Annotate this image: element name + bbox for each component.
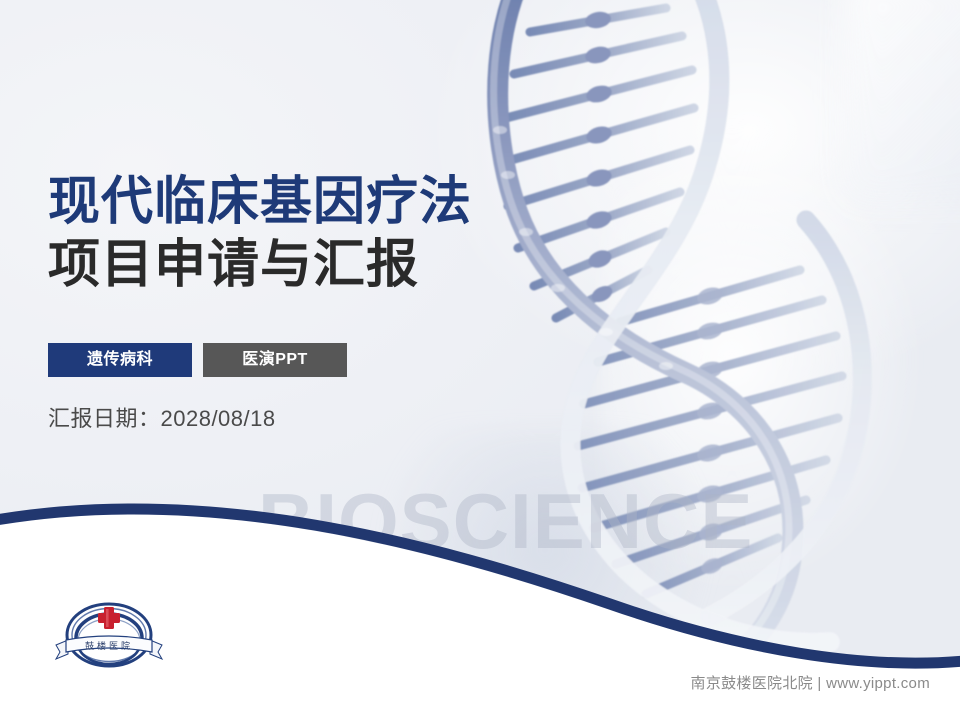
badge-template-brand[interactable]: 医演PPT [203,343,347,377]
title-slide: BIOSCIENCE 现代临床基因疗法 项目申请与汇报 遗传病科 医演PPT 汇… [0,0,960,720]
report-date: 汇报日期：2028/08/18 [48,401,276,433]
title-line-secondary: 项目申请与汇报 [48,235,472,296]
badge-group: 遗传病科 医演PPT [48,343,347,377]
badge-department[interactable]: 遗传病科 [48,343,192,377]
logo-banner-text: 鼓楼医院 [85,640,133,651]
footer-attribution: 南京鼓楼医院北院 | www.yippt.com [691,672,930,693]
page-title: 现代临床基因疗法 项目申请与汇报 [48,172,472,297]
title-line-primary: 现代临床基因疗法 [48,172,472,233]
hospital-logo: 鼓楼医院 [48,598,170,672]
red-cross-icon [98,607,120,629]
